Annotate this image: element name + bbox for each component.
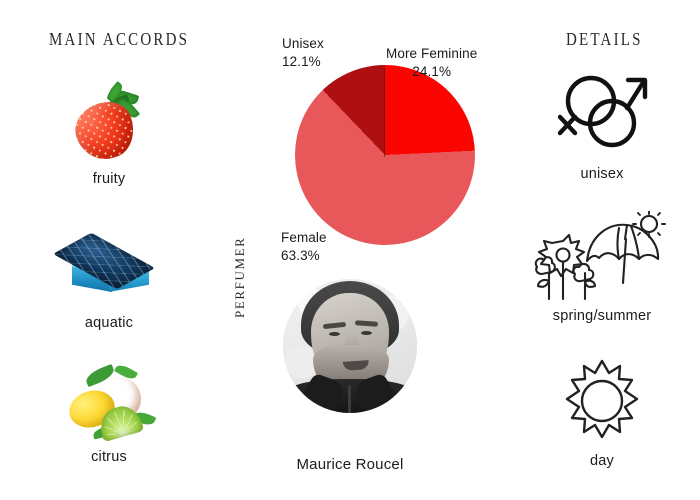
- pie-label-more-feminine: More Feminine 24.1%: [386, 45, 477, 81]
- gender-symbols-icon: [517, 66, 687, 160]
- accord-item-aquatic[interactable]: aquatic: [24, 229, 194, 331]
- accord-label: fruity: [24, 171, 194, 187]
- detail-label: unisex: [517, 166, 687, 182]
- detail-item-season[interactable]: spring/summer: [517, 210, 687, 324]
- citrus-fruits-icon: [24, 363, 194, 443]
- pie-graphic: [295, 65, 475, 245]
- perfumer-name: Maurice Roucel: [250, 456, 450, 473]
- flowers-parasol-sun-icon: [517, 210, 687, 302]
- detail-label: spring/summer: [517, 308, 687, 324]
- details-heading: DETAILS: [566, 31, 643, 51]
- sun-icon: [517, 355, 687, 447]
- accord-item-fruity[interactable]: fruity: [24, 85, 194, 187]
- pie-label-female: Female 63.3%: [281, 229, 327, 265]
- perfumer-heading: PERFUMER: [232, 237, 248, 318]
- main-accords-heading: MAIN ACCORDS: [49, 31, 189, 51]
- water-block-icon: [24, 229, 194, 309]
- detail-label: day: [517, 453, 687, 469]
- accord-item-citrus[interactable]: citrus: [24, 363, 194, 465]
- detail-item-unisex[interactable]: unisex: [517, 66, 687, 182]
- fragrance-info-card: MAIN ACCORDS fruity aquatic: [0, 0, 700, 500]
- pie-slice-divider: [384, 67, 385, 157]
- detail-item-day[interactable]: day: [517, 355, 687, 469]
- strawberry-icon: [24, 85, 194, 165]
- perfumer-avatar: [283, 279, 417, 413]
- pie-label-unisex: Unisex 12.1%: [282, 35, 324, 71]
- accord-label: citrus: [24, 449, 194, 465]
- accord-label: aquatic: [24, 315, 194, 331]
